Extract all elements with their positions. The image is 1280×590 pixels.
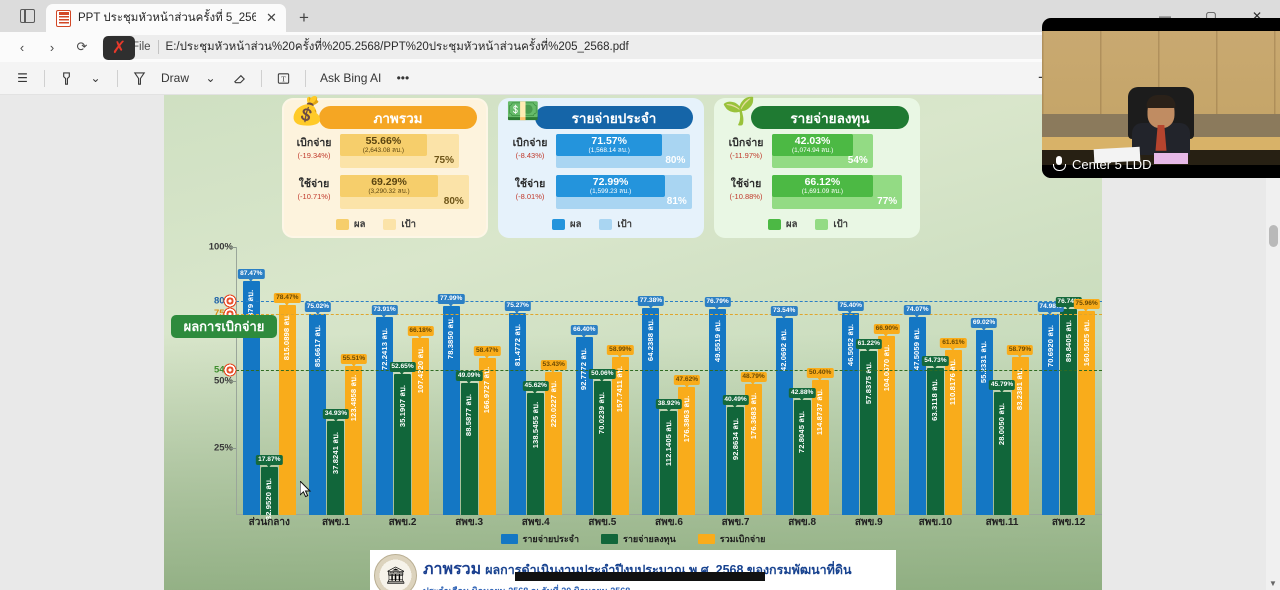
bar-value-label: 166.9727 ลบ.	[481, 367, 493, 414]
tab-actions-button[interactable]	[8, 0, 46, 32]
x-axis-label: สพข.2	[369, 515, 436, 530]
card-row: ใช้จ่าย (-8.01%) 81% 72.99% (1,599.23 ลบ…	[508, 175, 696, 212]
bar-value-label: 89.8405 ลบ.	[1063, 320, 1075, 362]
chart-grid: 87.47%782.1379 ลบ.17.87%32.9520 ลบ.78.47…	[236, 247, 1102, 515]
bar-percent-label: 48.79%	[740, 372, 766, 382]
disbursement-chart: ผลการเบิกจ่าย 100%80%75%เป้าหมายเบิกจ่าย…	[164, 243, 1102, 550]
bar-percent-label: 76.79%	[704, 297, 730, 307]
bar-value-label: 57.8375 ลบ.	[863, 362, 875, 404]
x-axis-label: สพข.12	[1035, 515, 1102, 530]
bar-value-label: 32.9520 ลบ.	[263, 478, 275, 520]
bar-percent-label: 61.61%	[940, 338, 966, 348]
legend-swatch	[552, 219, 565, 230]
row-delta: (-8.43%)	[508, 150, 552, 161]
actual-amount: (1,691.09 ลบ.)	[802, 188, 843, 196]
chart-bar: 45.79%28.0050 ลบ.	[994, 392, 1011, 515]
bar-group: 69.02%55.2331 ลบ.45.79%28.0050 ลบ.58.79%…	[969, 247, 1036, 515]
highlight-icon[interactable]	[54, 66, 79, 91]
bar-value-label: 42.0692 ลบ.	[778, 329, 790, 371]
actual-pct: 42.03%	[795, 136, 831, 147]
new-tab-button[interactable]: +	[291, 5, 317, 31]
actual-amount: (2,643.08 ลบ.)	[363, 147, 404, 155]
bar-group: 73.54%42.0692 ลบ.42.88%72.8045 ลบ.50.40%…	[769, 247, 836, 515]
summary-card-regular: 💵 รายจ่ายประจำ เบิกจ่าย (-8.43%) 80%	[498, 98, 704, 238]
chart-bar: 66.40%92.7772 ลบ.	[576, 337, 593, 515]
redaction-bar	[515, 572, 765, 581]
draw-icon[interactable]	[127, 66, 152, 91]
bar-value-label: 55.2331 ลบ.	[978, 341, 990, 383]
bar-value-label: 85.6617 ลบ.	[312, 325, 324, 367]
bar-percent-label: 17.87%	[256, 455, 282, 465]
bar-group: 75.27%81.4772 ลบ.45.62%138.5455 ลบ.53.43…	[502, 247, 569, 515]
x-axis-label: สพข.7	[702, 515, 769, 530]
target-marker-icon	[224, 294, 237, 307]
bar-percent-label: 54.73%	[922, 356, 948, 366]
actual-amount: (1,599.23 ลบ.)	[590, 188, 631, 196]
x-axis-label: สพข.1	[303, 515, 370, 530]
card-legend: ผล เป้า	[336, 217, 416, 232]
legend-label: ผล	[786, 217, 797, 232]
bar-percent-label: 77.99%	[438, 294, 464, 304]
bar-value-label: 70.0239 ลบ.	[596, 392, 608, 434]
bar-percent-label: 75.27%	[505, 301, 531, 311]
chart-bar: 34.93%37.8241 ลบ.	[327, 421, 344, 515]
bar-percent-label: 47.62%	[674, 375, 700, 385]
x-axis-label: สพข.3	[436, 515, 503, 530]
bar-value-label: 70.6920 ลบ.	[1045, 325, 1057, 367]
chart-bar: 17.87%32.9520 ลบ.	[261, 467, 278, 515]
bar-group: 66.40%92.7772 ลบ.50.06%70.0239 ลบ.58.99%…	[569, 247, 636, 515]
legend-swatch	[383, 219, 396, 230]
bar-value-label: 112.1405 ลบ.	[663, 420, 675, 466]
target-line	[236, 370, 1102, 371]
bar-value-label: 123.4858 ลบ.	[348, 375, 360, 422]
chart-plot-area: 100%80%75%เป้าหมายเบิกจ่าย54%50%25% 87.4…	[200, 247, 1102, 515]
government-seal-icon: 🏛	[374, 554, 417, 590]
chart-bar: 74.07%47.5059 ลบ.	[909, 317, 926, 516]
bar-groups: 87.47%782.1379 ลบ.17.87%32.9520 ลบ.78.47…	[236, 247, 1102, 515]
back-button[interactable]: ‹	[8, 34, 36, 60]
legend-label: เป้า	[617, 217, 632, 232]
bar-percent-label: 77.38%	[638, 296, 664, 306]
legend-label: เป้า	[833, 217, 848, 232]
bar-percent-label: 61.22%	[856, 339, 882, 349]
actual-bar: 69.29% (3,290.32 ลบ.)	[340, 175, 438, 197]
bar-percent-label: 75.40%	[838, 301, 864, 311]
chart-bar: 75.27%81.4772 ลบ.	[509, 313, 526, 515]
bar-value-label: 28.0050 ลบ.	[996, 403, 1008, 445]
bar-value-label: 64.2388 ลบ.	[645, 319, 657, 361]
bar-percent-label: 42.88%	[789, 388, 815, 398]
chart-bar: 66.90%104.0670 ลบ.	[878, 336, 895, 515]
legend-swatch	[768, 219, 781, 230]
money-bags-icon: 💰	[290, 98, 324, 125]
bar-value-label: 160.5025 ลบ.	[1081, 320, 1093, 367]
row-label: ใช้จ่าย	[724, 178, 768, 191]
extension-badge-icon[interactable]: ✗	[103, 36, 135, 60]
address-bar[interactable]: i File E:/ประชุมหัวหน้าส่วน%20ครั้งที่%2…	[102, 35, 1145, 59]
x-axis-label: สพข.11	[969, 515, 1036, 530]
row-delta: (-10.88%)	[724, 191, 768, 202]
x-axis-labels: ส่วนกลางสพข.1สพข.2สพข.3สพข.4สพข.5สพข.6สพ…	[236, 515, 1102, 530]
chart-bar: 61.22%57.8375 ลบ.	[860, 351, 877, 515]
y-axis-tick: 100%	[209, 242, 233, 253]
chart-bar: 77.38%64.2388 ลบ.	[642, 308, 659, 515]
actual-pct: 72.99%	[593, 177, 629, 188]
row-label: เบิกจ่าย	[724, 137, 768, 150]
chart-title-badge: ผลการเบิกจ่าย	[171, 315, 277, 338]
screen: PPT ประชุมหัวหน้าส่วนครั้งที่ 5_2568. ✕ …	[0, 0, 1280, 590]
legend-swatch	[599, 219, 612, 230]
target-marker-icon	[224, 364, 237, 377]
next-slide-banner: 🏛 ภาพรวม ผลการดำเนินงานประจำปีงบประมาณ พ…	[370, 550, 896, 590]
video-conference-overlay[interactable]: Center 5 LDD	[1042, 18, 1280, 178]
more-options-button[interactable]: •••	[390, 66, 415, 91]
bar-percent-label: 73.54%	[771, 306, 797, 316]
row-delta: (-19.34%)	[292, 150, 336, 161]
tab-actions-icon	[20, 9, 35, 23]
chart-bar: 69.02%55.2331 ลบ.	[976, 330, 993, 515]
card-legend: ผล เป้า	[768, 217, 848, 232]
card-title: รายจ่ายประจำ	[535, 106, 693, 129]
bar-percent-label: 66.18%	[407, 326, 433, 336]
legend-item: รายจ่ายลงทุน	[601, 532, 676, 546]
target-line	[236, 301, 1102, 302]
bar-percent-label: 45.62%	[523, 381, 549, 391]
x-axis-label: สพข.5	[569, 515, 636, 530]
bar-value-label: 83.2381 ลบ.	[1014, 368, 1026, 410]
legend-swatch	[601, 534, 618, 544]
card-row: เบิกจ่าย (-8.43%) 80% 71.57% (1,568.14 ล…	[508, 134, 696, 171]
x-axis-label: สพข.4	[502, 515, 569, 530]
chart-bar: 55.51%123.4858 ลบ.	[345, 366, 362, 515]
table-of-contents-button[interactable]: ☰	[10, 66, 35, 91]
bar-value-label: 49.5519 ลบ.	[712, 320, 724, 362]
bar-percent-label: 87.47%	[238, 269, 264, 279]
bar-group: 77.99%78.3850 ลบ.49.09%88.5877 ลบ.58.47%…	[436, 247, 503, 515]
browser-tab[interactable]: PPT ประชุมหัวหน้าส่วนครั้งที่ 5_2568. ✕	[46, 4, 286, 32]
ask-bing-ai-button[interactable]: Ask Bing AI	[315, 66, 386, 91]
legend-swatch	[501, 534, 518, 544]
legend-label: รายจ่ายประจำ	[523, 532, 579, 546]
bar-value-label: 81.4772 ลบ.	[512, 324, 524, 366]
card-title: รายจ่ายลงทุน	[751, 106, 909, 129]
card-title: ภาพรวม	[319, 106, 477, 129]
bar-value-label: 72.8045 ลบ.	[796, 411, 808, 453]
bar-percent-label: 66.40%	[571, 325, 597, 335]
bar-percent-label: 45.79%	[989, 380, 1015, 390]
chart-bar: 61.61%110.8176 ลบ.	[945, 350, 962, 515]
chart-bar: 45.62%138.5455 ลบ.	[527, 393, 544, 515]
actual-bar: 71.57% (1,568.14 ลบ.)	[556, 134, 662, 156]
bar-percent-label: 78.47%	[274, 293, 300, 303]
row-label: ใช้จ่าย	[292, 178, 336, 191]
url-text: E:/ประชุมหัวหน้าส่วน%20ครั้งที่%205.2568…	[166, 38, 1068, 56]
chart-bar: 73.54%42.0692 ลบ.	[776, 318, 793, 515]
x-axis-label: สพข.10	[902, 515, 969, 530]
mouse-cursor	[300, 481, 312, 499]
bar-percent-label: 53.43%	[541, 360, 567, 370]
chart-bar: 50.06%70.0239 ลบ.	[594, 381, 611, 515]
legend-swatch	[336, 219, 349, 230]
pdf-page: 💰 ภาพรวม เบิกจ่าย (-19.34%) 75% 55.66	[164, 95, 1102, 590]
card-row: เบิกจ่าย (-11.97%) 54% 42.03% (1,074.94 …	[724, 134, 912, 171]
bar-value-label: 37.8241 ลบ.	[330, 432, 342, 474]
bar-percent-label: 40.49%	[722, 395, 748, 405]
chart-bar: 76.79%49.5519 ลบ.	[709, 309, 726, 515]
actual-bar: 55.66% (2,643.08 ลบ.)	[340, 134, 427, 156]
bar-group: 75.40%46.5052 ลบ.61.22%57.8375 ลบ.66.90%…	[835, 247, 902, 515]
chart-bar: 42.88%72.8045 ลบ.	[794, 400, 811, 515]
legend-label: ผล	[354, 217, 365, 232]
bar-value-label: 157.7411 ลบ.	[614, 366, 626, 412]
legend-swatch	[698, 534, 715, 544]
tab-close-button[interactable]: ✕	[263, 10, 280, 27]
row-label: เบิกจ่าย	[292, 137, 336, 150]
x-axis-label: สพข.9	[835, 515, 902, 530]
bar-percent-label: 58.79%	[1007, 345, 1033, 355]
card-row: ใช้จ่าย (-10.71%) 80% 69.29% (3,290.32 ล…	[292, 175, 480, 212]
chart-bar: 49.09%88.5877 ลบ.	[461, 383, 478, 515]
chart-bar: 50.40%114.8737 ลบ.	[812, 380, 829, 515]
summary-card-overview: 💰 ภาพรวม เบิกจ่าย (-19.34%) 75% 55.66	[282, 98, 488, 238]
bar-percent-label: 34.93%	[323, 409, 349, 419]
bar-value-label: 220.0227 ลบ.	[548, 381, 560, 428]
chart-bar: 38.92%112.1405 ลบ.	[660, 411, 677, 515]
card-legend: ผล เป้า	[552, 217, 632, 232]
row-delta: (-11.97%)	[724, 150, 768, 161]
chart-bar: 77.99%78.3850 ลบ.	[443, 306, 460, 515]
video-feed	[1042, 31, 1280, 165]
banner-subtitle-2: ประจำเดือน มิถุนายน 2568 ณ วันที่ 20 มิถ…	[423, 584, 852, 590]
text-icon[interactable]: T	[271, 66, 296, 91]
chart-bar: 75.96%160.5025 ลบ.	[1078, 311, 1095, 515]
actual-bar: 66.12% (1,691.09 ลบ.)	[772, 175, 873, 197]
axis-tick-mark	[231, 247, 236, 248]
scrollbar-thumb[interactable]	[1269, 225, 1278, 247]
bar-percent-label: 49.09%	[456, 371, 482, 381]
row-label: ใช้จ่าย	[508, 178, 552, 191]
bar-percent-label: 75.02%	[305, 302, 331, 312]
chart-bar: 58.99%157.7411 ลบ.	[612, 357, 629, 515]
bar-percent-label: 73.91%	[371, 305, 397, 315]
chart-bar: 78.47%815.0898 ลบ.	[279, 305, 296, 515]
chart-bar: 58.47%166.9727 ลบ.	[479, 358, 496, 515]
bar-percent-label: 58.99%	[607, 345, 633, 355]
bar-percent-label: 50.06%	[589, 369, 615, 379]
actual-bar: 72.99% (1,599.23 ลบ.)	[556, 175, 665, 197]
bar-group: 75.02%85.6617 ลบ.34.93%37.8241 ลบ.55.51%…	[303, 247, 370, 515]
seedling-hand-icon: 🌱	[722, 98, 756, 125]
address-divider	[158, 40, 159, 54]
banner-title: ภาพรวม	[423, 557, 481, 582]
summary-cards: 💰 ภาพรวม เบิกจ่าย (-19.34%) 75% 55.66	[282, 98, 1094, 240]
chart-legend: รายจ่ายประจำรายจ่ายลงทุนรวมเบิกจ่าย	[164, 531, 1102, 547]
x-axis-label: ส่วนกลาง	[236, 515, 303, 530]
legend-label: เป้า	[401, 217, 416, 232]
x-axis-label: สพข.6	[636, 515, 703, 530]
bar-percent-label: 66.90%	[874, 324, 900, 334]
actual-pct: 55.66%	[366, 136, 402, 147]
svg-text:T: T	[281, 74, 286, 83]
row-delta: (-8.01%)	[508, 191, 552, 202]
bar-group: 77.38%64.2388 ลบ.38.92%112.1405 ลบ.47.62…	[636, 247, 703, 515]
bar-value-label: 104.0670 ลบ.	[881, 344, 893, 391]
bar-group: 74.98%70.6920 ลบ.76.74%89.8405 ลบ.75.96%…	[1035, 247, 1102, 515]
actual-bar: 42.03% (1,074.94 ลบ.)	[772, 134, 853, 156]
bar-percent-label: 38.92%	[656, 399, 682, 409]
bar-value-label: 78.3850 ลบ.	[445, 317, 457, 359]
refresh-button[interactable]: ⟳	[68, 34, 96, 60]
pdf-favicon-icon	[56, 10, 71, 27]
bar-percent-label: 55.51%	[341, 354, 367, 364]
x-axis-label: สพข.8	[769, 515, 836, 530]
bar-value-label: 114.8737 ลบ.	[814, 389, 826, 435]
actual-pct: 71.57%	[591, 136, 627, 147]
legend-swatch	[815, 219, 828, 230]
bar-percent-label: 75.96%	[1073, 299, 1099, 309]
bar-percent-label: 50.40%	[807, 368, 833, 378]
bar-value-label: 92.8634 ลบ.	[730, 417, 742, 459]
row-delta: (-10.71%)	[292, 191, 336, 202]
card-row: ใช้จ่าย (-10.88%) 77% 66.12% (1,691.09 ล…	[724, 175, 912, 212]
chart-bar: 74.98%70.6920 ลบ.	[1042, 314, 1059, 515]
card-row: เบิกจ่าย (-19.34%) 75% 55.66% (2,643.08 …	[292, 134, 480, 171]
forward-button[interactable]: ›	[38, 34, 66, 60]
bar-percent-label: 52.65%	[389, 362, 415, 372]
bar-percent-label: 58.47%	[474, 346, 500, 356]
bar-group: 73.91%72.2413 ลบ.52.65%35.1907 ลบ.66.18%…	[369, 247, 436, 515]
legend-label: รวมเบิกจ่าย	[720, 532, 766, 546]
chart-bar: 53.43%220.0227 ลบ.	[545, 372, 562, 515]
draw-button[interactable]: Draw	[156, 66, 194, 91]
chart-bar: 76.74%89.8405 ลบ.	[1060, 309, 1077, 515]
erase-icon[interactable]	[227, 66, 252, 91]
bar-group: 76.79%49.5519 ลบ.40.49%92.8634 ลบ.48.79%…	[702, 247, 769, 515]
chart-bar: 40.49%92.8634 ลบ.	[727, 407, 744, 516]
chart-bar: 54.73%63.3118 ลบ.	[927, 368, 944, 515]
legend-item: รายจ่ายประจำ	[501, 532, 579, 546]
actual-pct: 69.29%	[371, 177, 407, 188]
bar-percent-label: 74.07%	[904, 305, 930, 315]
legend-label: รายจ่ายลงทุน	[623, 532, 676, 546]
bar-percent-label: 69.02%	[971, 318, 997, 328]
bar-value-label: 88.5877 ลบ.	[463, 394, 475, 436]
draw-caret-icon[interactable]: ⌄	[198, 66, 223, 91]
tab-title: PPT ประชุมหัวหน้าส่วนครั้งที่ 5_2568.	[78, 9, 256, 27]
bar-value-label: 110.8176 ลบ.	[947, 359, 959, 405]
scroll-down-button[interactable]: ▼	[1266, 576, 1280, 590]
microphone-icon	[1052, 156, 1065, 172]
highlight-color-caret-icon[interactable]: ⌄	[83, 66, 108, 91]
bar-group: 74.07%47.5059 ลบ.54.73%63.3118 ลบ.61.61%…	[902, 247, 969, 515]
actual-pct: 66.12%	[805, 177, 841, 188]
bar-value-label: 138.5455 ลบ.	[530, 401, 542, 448]
actual-amount: (1,074.94 ลบ.)	[792, 147, 833, 155]
bar-value-label: 815.0898 ลบ.	[281, 313, 293, 360]
bar-value-label: 35.1907 ลบ.	[397, 385, 409, 427]
money-bag-calculator-icon: 💵	[506, 98, 540, 125]
bar-group: 87.47%782.1379 ลบ.17.87%32.9520 ลบ.78.47…	[236, 247, 303, 515]
row-label: เบิกจ่าย	[508, 137, 552, 150]
actual-amount: (1,568.14 ลบ.)	[589, 147, 630, 155]
axis-tick-mark	[231, 381, 236, 382]
bar-value-label: 176.3863 ลบ.	[681, 396, 693, 443]
axis-tick-mark	[231, 448, 236, 449]
chart-bar: 73.91%72.2413 ลบ.	[376, 317, 393, 515]
legend-item: รวมเบิกจ่าย	[698, 532, 766, 546]
target-line	[236, 314, 1102, 315]
bar-value-label: 63.3118 ลบ.	[929, 379, 941, 421]
bar-value-label: 176.3683 ลบ.	[748, 393, 760, 440]
actual-amount: (3,290.32 ลบ.)	[368, 188, 409, 196]
legend-label: ผล	[570, 217, 581, 232]
summary-card-investment: 🌱 รายจ่ายลงทุน เบิกจ่าย (-11.97%) 54%	[714, 98, 920, 238]
chart-bar: 52.65%35.1907 ลบ.	[394, 374, 411, 515]
